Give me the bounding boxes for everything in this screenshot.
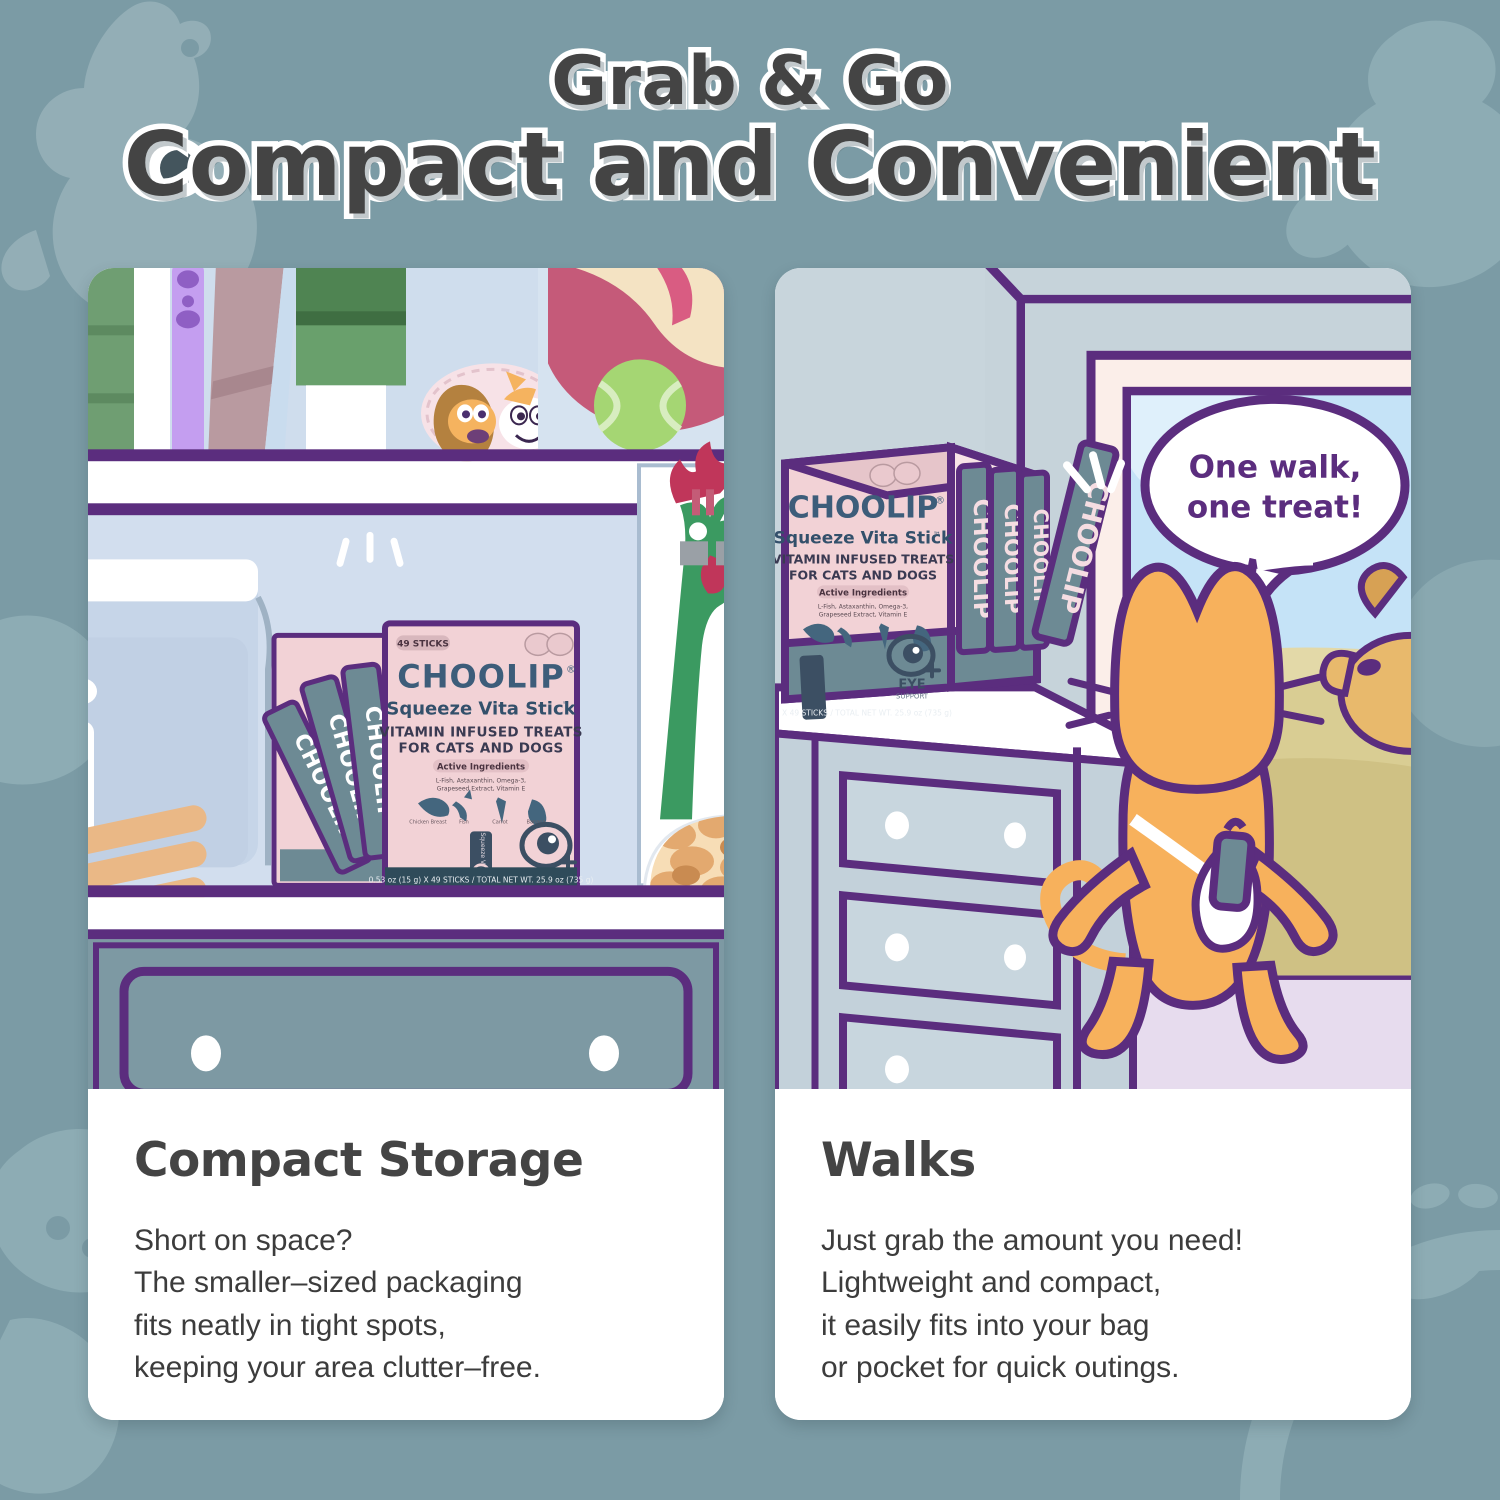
card-text-block: Walks Just grab the amount you need! Lig… [775,1089,1411,1420]
svg-text:Squeeze Vita Stick: Squeeze Vita Stick [386,698,576,719]
card-body: Just grab the amount you need! Lightweig… [821,1220,1365,1390]
svg-text:Squeeze Vita Stick: Squeeze Vita Stick [775,528,953,548]
svg-text:®: ® [566,664,576,675]
svg-text:49 STICKS: 49 STICKS [397,639,449,649]
illustration-doorway-walk: One walk, one treat! [775,268,1411,1089]
svg-text:™: ™ [933,530,941,539]
svg-text:CHOOLIP: CHOOLIP [397,657,564,695]
svg-text:®: ® [935,495,945,506]
feature-cards: CHOOLIP CHOOLIP CHOOLIP [88,268,1412,1420]
dresser [775,687,1133,1088]
svg-text:Fish: Fish [459,819,469,825]
svg-text:FOR CATS AND DOGS: FOR CATS AND DOGS [399,740,564,756]
headline-line-2: Compact and Convenient [0,118,1500,211]
svg-text:Active Ingredients: Active Ingredients [437,762,525,772]
svg-text:Carrot: Carrot [492,819,508,825]
card-title: Walks [821,1133,1365,1188]
product-box-front: 49 STICKS CHOOLIP ® Squeeze Vita Stick ™… [379,623,583,893]
svg-text:Chicken Breast: Chicken Breast [409,819,446,825]
card-text-block: Compact Storage Short on space? The smal… [88,1089,724,1420]
doorway-walk-scene: One walk, one treat! [775,268,1411,1089]
tennis-ball [594,359,686,451]
headline-line-1: Grab & Go [0,46,1500,118]
svg-text:Grapeseed Extract, Vitamin E: Grapeseed Extract, Vitamin E [819,611,908,618]
speech-line-2: one treat! [1187,489,1363,525]
card-body: Short on space? The smaller–sized packag… [134,1220,678,1390]
card-walks: One walk, one treat! [775,268,1411,1420]
net-weight-label: 0.53 oz (15 g) X 49 STICKS / TOTAL NET W… [369,875,594,884]
svg-text:™: ™ [562,700,570,709]
card-compact-storage: CHOOLIP CHOOLIP CHOOLIP [88,268,724,1420]
svg-text:L-Fish, Astaxanthin, Omega-3,: L-Fish, Astaxanthin, Omega-3, [436,777,526,784]
drawer-cabinet [88,939,724,1088]
svg-text:Grapeseed Extract, Vitamin E: Grapeseed Extract, Vitamin E [437,785,526,792]
illustration-kitchen-shelf: CHOOLIP CHOOLIP CHOOLIP [88,268,724,1089]
svg-text:Active Ingredients: Active Ingredients [819,588,907,598]
page-headline: Grab & Go Compact and Convenient [0,46,1500,211]
svg-text:SUPPORT: SUPPORT [896,692,929,700]
speech-line-1: One walk, [1189,449,1362,485]
svg-text:EYE: EYE [898,677,925,692]
kitchen-shelf-scene: CHOOLIP CHOOLIP CHOOLIP [88,268,724,1089]
svg-text:L-Fish, Astaxanthin, Omega-3,: L-Fish, Astaxanthin, Omega-3, [818,603,908,610]
card-title: Compact Storage [134,1133,678,1188]
svg-text:VITAMIN INFUSED TREATS: VITAMIN INFUSED TREATS [379,724,583,740]
svg-text:CHOOLIP: CHOOLIP [788,490,938,525]
svg-text:X 49 STICKS / TOTAL NET WT. 25: X 49 STICKS / TOTAL NET WT. 25.9 oz (735… [782,708,952,717]
svg-text:VITAMIN INFUSED TREATS: VITAMIN INFUSED TREATS [775,551,954,566]
svg-text:FOR CATS AND DOGS: FOR CATS AND DOGS [789,567,937,582]
